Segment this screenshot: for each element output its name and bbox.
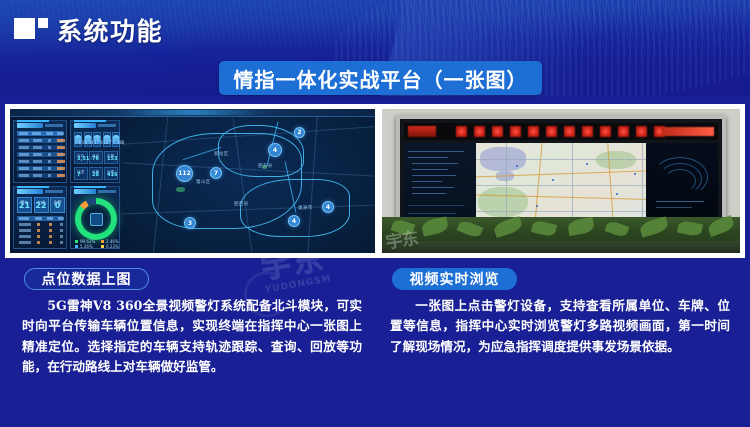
section-pill-label: 点位数据上图 <box>42 269 132 289</box>
section-pill-label: 视频实时浏览 <box>410 269 500 289</box>
map-marker[interactable]: 2 <box>294 127 305 138</box>
map-marker[interactable]: 3 <box>184 217 196 229</box>
panel-header-accent <box>98 190 116 193</box>
subtitle-banner-label: 情指一体化实战平台（一张图） <box>234 64 528 93</box>
panel-device-list <box>13 120 67 183</box>
page-title: 系统功能 <box>57 12 163 48</box>
kpi-value: 5,366 <box>113 140 119 145</box>
panel-header-bar <box>74 189 96 194</box>
square-marker-small-icon <box>38 18 48 28</box>
map-marker[interactable]: 4 <box>288 215 300 227</box>
legend-value: 5.26% <box>80 244 93 249</box>
stat-tile: 告警153 <box>104 151 118 164</box>
panel-header-bar <box>74 123 96 128</box>
video-wall <box>396 115 726 225</box>
kpi-tile: 5,366 <box>112 132 120 147</box>
count-box: 在线22 <box>34 197 49 213</box>
section-body-point-data: 5G雷神V8 360全景视频警灯系统配备北斗模块，可实时向平台传输车辆位置信息，… <box>22 296 362 378</box>
kpi-tile: 8,546 <box>84 132 92 147</box>
stat-value: 7 <box>77 172 80 178</box>
led-right-text <box>662 127 714 136</box>
section-body-video-browse: 一张图上点击警灯设备，支持查看所属单位、车牌、位置等信息，指挥中心实时浏览警灯多… <box>390 296 730 357</box>
stat-value: 28 <box>92 172 99 178</box>
panel-statistics-list: 警车21 在线22 告警0 <box>13 186 67 249</box>
count-box: 告警0 <box>50 197 65 213</box>
planter-foliage <box>382 217 740 253</box>
stat-value: 416 <box>107 172 117 178</box>
section-pill-point-data[interactable]: 点位数据上图 <box>24 268 149 290</box>
square-marker-large-icon <box>14 18 35 39</box>
photo-watermark: 宇东 <box>385 231 419 251</box>
panel-header-bar <box>17 123 43 128</box>
count-value: 21 <box>18 201 31 210</box>
kpi-value: 2277 <box>104 140 110 145</box>
kpi-value: 17.66 <box>94 140 100 145</box>
main-map-display <box>476 143 670 223</box>
kpi-value: 8,546 <box>85 140 91 145</box>
count-box: 警车21 <box>17 197 32 213</box>
kpi-value: 24/36 <box>75 140 81 145</box>
count-value: 22 <box>35 201 48 210</box>
map-marker[interactable]: 112 <box>176 165 193 182</box>
led-banner <box>404 123 718 140</box>
map-marker[interactable]: 4 <box>322 201 334 213</box>
panel-header-accent <box>45 190 63 193</box>
stat-value: 153 <box>107 156 117 162</box>
map-marker[interactable]: 7 <box>210 167 222 179</box>
legend-value: 0.23% <box>106 244 119 249</box>
map-canvas: 新站区 肥东县 蜀山区 肥西县 巢湖市 112 7 2 4 3 4 4 <box>122 117 375 253</box>
dashboard-canvas: 新站区 肥东县 蜀山区 肥西县 巢湖市 112 7 2 4 3 4 4 <box>10 109 375 253</box>
panel-header-bar <box>17 189 43 194</box>
photo-canvas: 宇东 <box>382 109 740 253</box>
right-side-display <box>646 143 718 223</box>
slide-header: 系统功能 <box>0 0 750 56</box>
command-center-photo-image: 宇东 <box>382 109 740 253</box>
screenshot-frame: 新站区 肥东县 蜀山区 肥西县 巢湖市 112 7 2 4 3 4 4 <box>5 104 745 258</box>
stat-value: 76 <box>92 156 99 162</box>
subtitle-banner: 情指一体化实战平台（一张图） <box>219 61 542 95</box>
stat-tile: 出警28 <box>89 167 103 180</box>
floor-strip <box>382 241 740 253</box>
kpi-tile: 17.66 <box>93 132 101 147</box>
panel-ratio-chart: 99.62% 5.26% 2.46% 0.23% <box>70 186 120 249</box>
slide-root: 系统功能 情指一体化实战平台（一张图） <box>0 0 750 427</box>
stat-tile: 巡逻7 <box>74 167 88 180</box>
gis-one-map-dashboard-image: 新站区 肥东县 蜀山区 肥西县 巢湖市 112 7 2 4 3 4 4 <box>10 109 375 253</box>
led-clock <box>408 126 436 137</box>
kpi-tile: 2277 <box>103 132 111 147</box>
count-value: 0 <box>51 201 64 210</box>
panel-device-status: 24/36 8,546 17.66 2277 5,366 在线3,514 离线7… <box>70 120 120 183</box>
left-side-display <box>404 143 476 223</box>
kpi-tile: 24/36 <box>74 132 82 147</box>
map-marker[interactable]: 4 <box>268 143 282 157</box>
donut-center-icon <box>90 213 103 226</box>
panel-header-accent <box>45 124 63 127</box>
section-pill-video-browse[interactable]: 视频实时浏览 <box>392 268 517 290</box>
stat-tile: 在线3,514 <box>74 151 88 164</box>
stat-tile: 处置416 <box>104 167 118 180</box>
panel-header-accent <box>98 124 116 127</box>
dashboard-titlebar <box>10 109 375 117</box>
stat-tile: 离线76 <box>89 151 103 164</box>
